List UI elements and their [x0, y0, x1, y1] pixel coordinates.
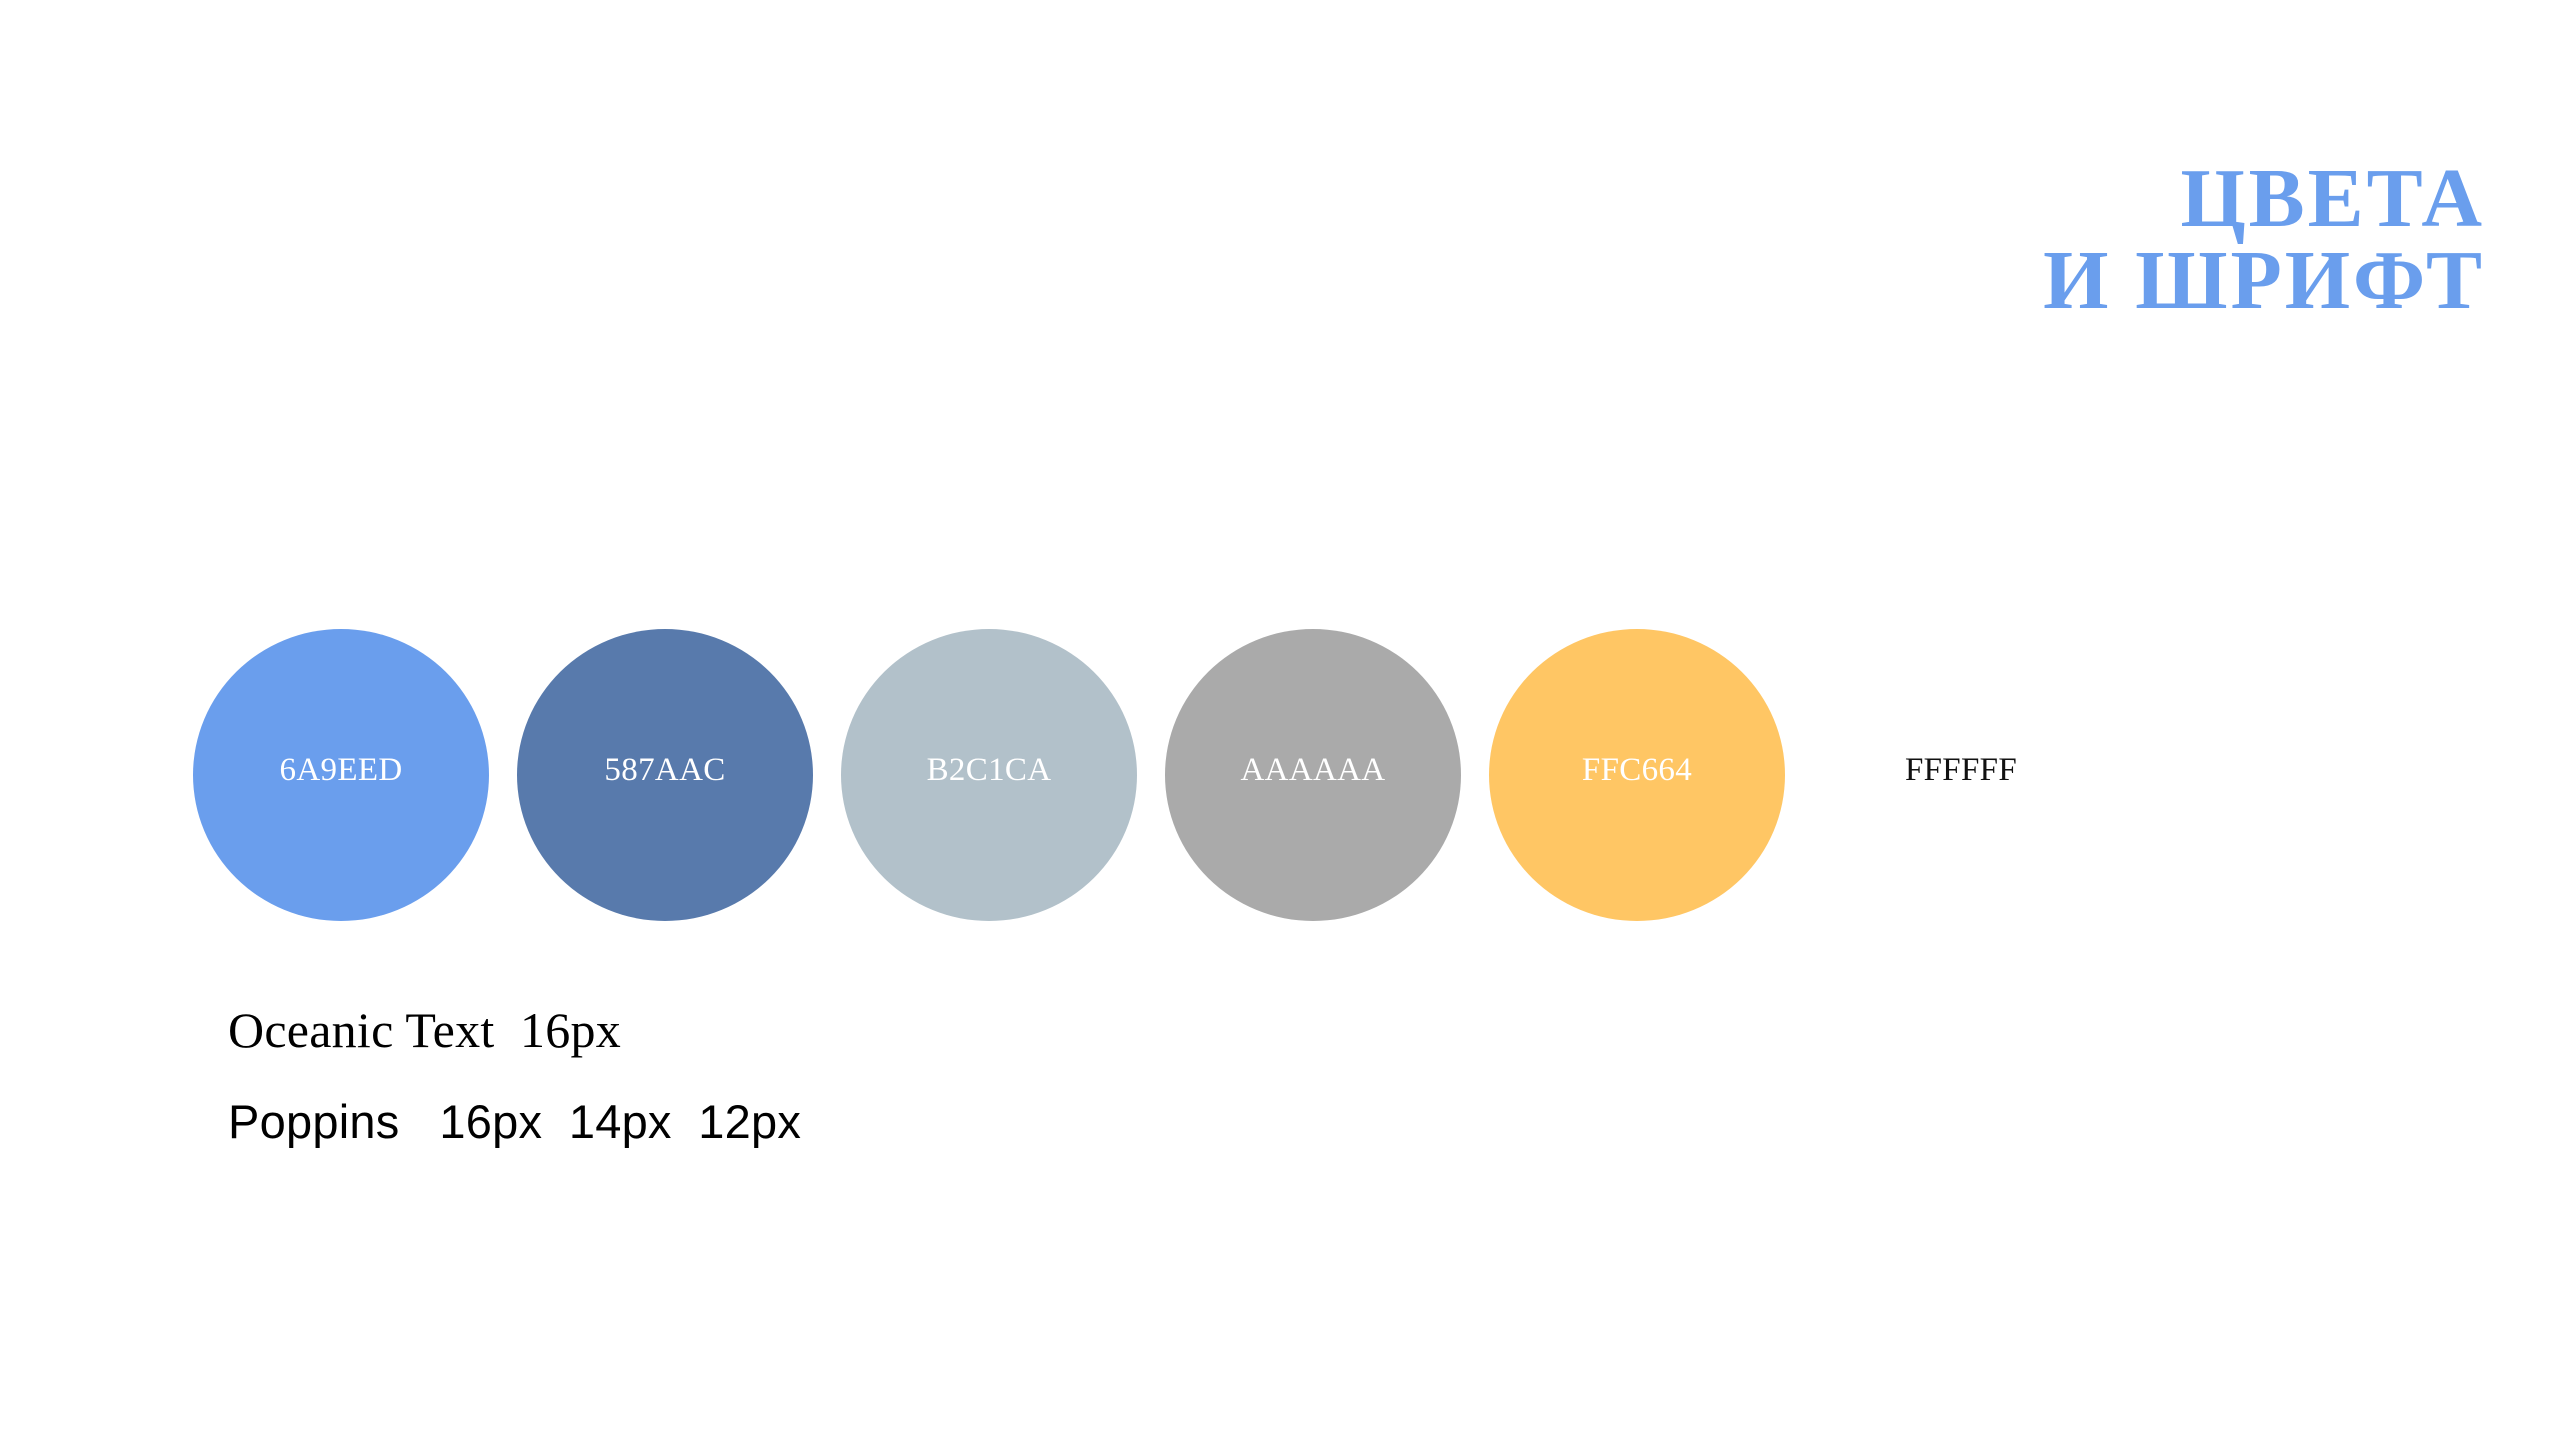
page-title: ЦВЕТА И ШРИФТ [2043, 158, 2485, 323]
color-palette-row: 6A9EED 587AAC B2C1CA AAAAAA FFC664 FFFFF… [193, 629, 2137, 921]
color-swatch-aaaaaa: AAAAAA [1165, 629, 1461, 921]
color-swatch-label: B2C1CA [927, 754, 1052, 787]
typography-samples: Oceanic Text 16px Poppins 16px 14px 12px [228, 1005, 801, 1145]
color-swatch-6a9eed: 6A9EED [193, 629, 489, 921]
color-swatch-label: FFFFFF [1905, 754, 2017, 787]
font-sample-sans: Poppins 16px 14px 12px [228, 1098, 801, 1145]
title-line-colors: ЦВЕТА [2043, 158, 2485, 240]
color-swatch-label: FFC664 [1582, 754, 1692, 787]
color-swatch-ffffff: FFFFFF [1813, 629, 2109, 921]
font-sample-serif: Oceanic Text 16px [228, 1005, 801, 1055]
color-swatch-label: 587AAC [604, 754, 725, 787]
style-guide-slide: ЦВЕТА И ШРИФТ 6A9EED 587AAC B2C1CA AAAAA… [0, 0, 2561, 1440]
color-swatch-b2c1ca: B2C1CA [841, 629, 1137, 921]
color-swatch-ffc664: FFC664 [1489, 629, 1785, 921]
color-swatch-label: 6A9EED [280, 754, 403, 787]
title-line-font: И ШРИФТ [2043, 240, 2485, 322]
color-swatch-587aac: 587AAC [517, 629, 813, 921]
color-swatch-label: AAAAAA [1241, 754, 1386, 787]
